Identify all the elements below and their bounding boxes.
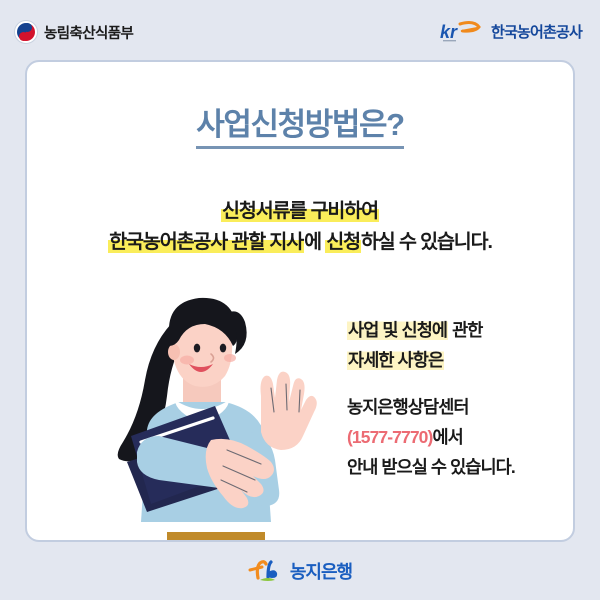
subtitle-line-2: 한국농어촌공사 관할 지사에 신청하실 수 있습니다.: [27, 227, 573, 258]
body-line1-highlight: 사업 및 신청에: [347, 320, 448, 340]
body-line-2: 자세한 사항은: [347, 345, 575, 375]
footer-label: 농지은행: [290, 558, 352, 584]
body-text-block-2: 농지은행상담센터 (1577-7770)에서 안내 받으실 수 있습니다.: [347, 392, 575, 482]
subtitle-line1-highlight: 신청서류를 구비하여: [221, 200, 379, 222]
woman-waving-with-folder-illustration: [75, 284, 335, 542]
body-line2-highlight: 자세한 사항은: [347, 350, 444, 370]
subtitle-line2-highlight-c: 신청: [325, 231, 361, 253]
phone-number: (1577-7770): [347, 427, 432, 447]
ministry-label: 농림축산식품부: [44, 22, 133, 43]
subtitle-line2-plain-d: 하실 수 있습니다.: [361, 231, 492, 253]
title-container: 사업신청방법은?: [27, 108, 573, 149]
body-line-5: 안내 받으실 수 있습니다.: [347, 452, 575, 482]
page-title: 사업신청방법은?: [196, 108, 403, 149]
ministry-logo: 농림축산식품부: [14, 20, 133, 44]
page-footer: 농지은행: [0, 542, 600, 600]
fb-farmland-bank-icon: [248, 559, 282, 583]
content-card: 사업신청방법은? 신청서류를 구비하여 한국농어촌공사 관할 지사에 신청하실 …: [25, 60, 575, 542]
subtitle-block: 신청서류를 구비하여 한국농어촌공사 관할 지사에 신청하실 수 있습니다.: [27, 196, 573, 258]
body-text-block-1: 사업 및 신청에 관한 자세한 사항은: [347, 315, 575, 375]
agency-label: 한국농어촌공사: [491, 21, 582, 42]
page-header: 농림축산식품부 kr 한국농어촌공사: [0, 0, 600, 60]
body-line-1: 사업 및 신청에 관한: [347, 315, 575, 345]
agency-logo: kr 한국농어촌공사: [440, 19, 582, 43]
body-line-3: 농지은행상담센터: [347, 392, 575, 422]
body-line-4: (1577-7770)에서: [347, 422, 575, 452]
kr-logo-icon: kr: [440, 19, 482, 43]
taeguk-icon: [14, 20, 38, 44]
body-line1-rest: 관한: [448, 320, 482, 340]
subtitle-line2-plain-b: 에: [304, 231, 325, 253]
body-line4-rest: 에서: [432, 427, 462, 447]
subtitle-line2-highlight-a: 한국농어촌공사 관할 지사: [108, 231, 304, 253]
svg-text:kr: kr: [440, 22, 458, 42]
subtitle-line-1: 신청서류를 구비하여: [27, 196, 573, 227]
